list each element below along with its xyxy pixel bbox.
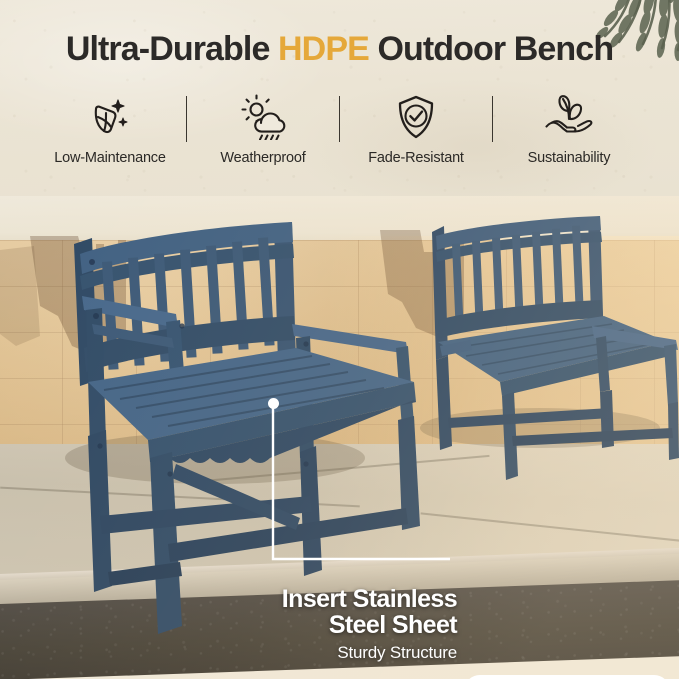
shield-check-icon xyxy=(395,92,437,142)
sun-cloud-rain-icon xyxy=(239,92,287,142)
feature-label: Weatherproof xyxy=(220,150,305,166)
product-photo: Insert Stainless Steel Sheet Sturdy Stru… xyxy=(0,196,679,679)
feature-weatherproof: Weatherproof xyxy=(187,92,339,166)
hand-sprout-icon xyxy=(543,92,595,142)
feature-divider xyxy=(492,96,493,142)
product-infographic: Ultra-Durable HDPE Outdoor Bench Low-Mai… xyxy=(0,0,679,679)
feature-label: Low-Maintenance xyxy=(54,150,165,166)
page-title: Ultra-Durable HDPE Outdoor Bench xyxy=(0,30,679,69)
sparkle-cloth-icon xyxy=(87,92,133,142)
feature-divider xyxy=(186,96,187,142)
headline-part-2: Outdoor Bench xyxy=(369,30,613,68)
callout-text-block: Insert Stainless Steel Sheet Sturdy Stru… xyxy=(282,586,457,663)
header-band: Ultra-Durable HDPE Outdoor Bench Low-Mai… xyxy=(0,0,679,196)
callout-subtitle: Sturdy Structure xyxy=(282,643,457,663)
feature-fade-resistant: Fade-Resistant xyxy=(340,92,492,166)
headline-part-1: Ultra-Durable xyxy=(66,30,278,68)
feature-label: Fade-Resistant xyxy=(368,150,464,166)
feature-row: Low-Maintenance Weatherproof xyxy=(0,92,679,166)
callout-anchor-dot xyxy=(268,398,279,409)
detail-inset-panel xyxy=(464,675,670,679)
headline-accent: HDPE xyxy=(278,30,369,68)
feature-divider xyxy=(339,96,340,142)
feature-low-maintenance: Low-Maintenance xyxy=(34,92,186,166)
feature-sustainability: Sustainability xyxy=(493,92,645,166)
callout-title: Insert Stainless Steel Sheet xyxy=(282,586,457,638)
feature-label: Sustainability xyxy=(528,150,611,166)
